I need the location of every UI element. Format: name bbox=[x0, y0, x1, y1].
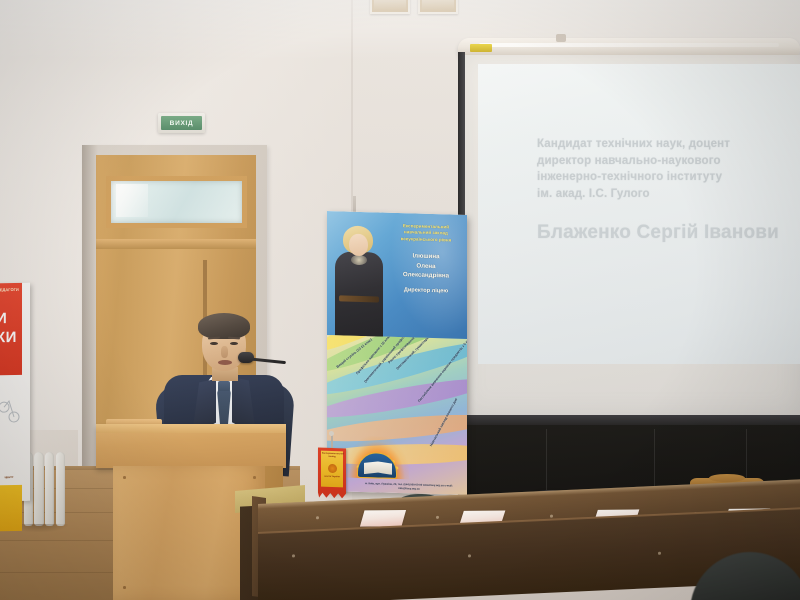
pennant-fringe bbox=[318, 491, 346, 499]
exit-sign-label: ВИХІД bbox=[170, 120, 194, 127]
slide-speaker-name: Блаженко Сергій Іванови bbox=[537, 222, 800, 244]
slide-line-3: інженерно-технічного інституту bbox=[537, 169, 800, 186]
housing-label-sticker bbox=[470, 44, 492, 52]
banner-person-name: Ілюшина Олена Олександрівна bbox=[389, 251, 463, 282]
door-rail bbox=[96, 239, 256, 249]
radiator-fin bbox=[45, 452, 54, 526]
left-rollup-big-line-2: КИ bbox=[0, 328, 22, 347]
lecture-hall-photo: ВИХІД Кандидат технічних наук, доцент ди… bbox=[0, 0, 800, 600]
portrait-face bbox=[349, 234, 368, 257]
slide-line-2: директор навчально-наукового bbox=[537, 153, 800, 170]
podium-top-edge bbox=[96, 424, 286, 433]
radiator-fin bbox=[56, 452, 65, 526]
bicycle-glyph-icon bbox=[0, 395, 20, 435]
podium-screw bbox=[253, 476, 256, 479]
banner-headline: Експериментальний навчальний заклад всеу… bbox=[389, 223, 463, 244]
housing-highlight bbox=[479, 43, 780, 47]
portrait-belt bbox=[339, 295, 379, 302]
pennant-top-text: Експериментальний заклад bbox=[322, 453, 342, 460]
banner-name-line-3: Олександрівна bbox=[389, 270, 463, 282]
podium-screw bbox=[123, 586, 126, 589]
exit-sign: ВИХІД bbox=[158, 113, 205, 133]
table-pennant-flag: Експериментальний заклад освіти України bbox=[318, 448, 346, 499]
pennant-finial bbox=[329, 431, 334, 436]
desk-stud bbox=[658, 552, 661, 555]
speaker-tie-knot bbox=[218, 381, 230, 391]
left-rollup-red-block: ПЕДАГОГИ И КИ bbox=[0, 283, 22, 375]
microphone-icon bbox=[238, 352, 254, 363]
glass-glint bbox=[116, 184, 147, 218]
banner-sun-logo bbox=[345, 436, 409, 480]
pennant-seal-icon bbox=[328, 464, 337, 473]
podium-top bbox=[96, 424, 286, 468]
wall-panel-right bbox=[418, 0, 458, 14]
desk-stud bbox=[316, 516, 319, 519]
open-book-icon bbox=[364, 461, 392, 475]
left-rollup-top-text: ПЕДАГОГИ bbox=[0, 287, 22, 292]
pennant-inner-panel: Експериментальний заклад освіти України bbox=[321, 451, 343, 488]
podium-screw bbox=[123, 476, 126, 479]
speaker-hair bbox=[198, 313, 250, 339]
banner-footer-contact: м. Київ, вул. Пушкіна, 20, тел. (044) 00… bbox=[357, 482, 461, 492]
banner-bottom-section: Вищий ступінь (10-11 клас) Профільне нав… bbox=[327, 335, 467, 495]
slide-line-1: Кандидат технічних наук, доцент bbox=[537, 136, 800, 153]
speaker-nose bbox=[221, 346, 228, 358]
door-transom-window bbox=[106, 176, 247, 228]
screen-ceiling-bracket bbox=[556, 34, 566, 42]
banner-portrait bbox=[333, 225, 385, 342]
desk-stud bbox=[468, 554, 471, 557]
radiator-fin bbox=[34, 452, 43, 526]
pennant-body: Експериментальний заклад освіти України bbox=[318, 448, 346, 493]
slide-subtitle-block: Кандидат технічних наук, доцент директор… bbox=[537, 136, 800, 202]
wall-panel-left bbox=[370, 0, 410, 14]
left-rollup-big-text: И КИ bbox=[0, 309, 22, 347]
desk-stud bbox=[436, 516, 439, 519]
slide-line-4: ім. акад. І.С. Гулого bbox=[537, 186, 800, 203]
left-rollup-bottom-text: ЦЕНТР bbox=[0, 476, 22, 479]
portrait-necklace bbox=[351, 255, 367, 265]
namecard-1 bbox=[360, 510, 406, 527]
exit-sign-face: ВИХІД bbox=[161, 116, 202, 130]
projector-screen-surface bbox=[478, 64, 800, 364]
rollup-banner: Експериментальний навчальний заклад всеу… bbox=[327, 211, 467, 495]
pennant-bottom-text: освіти України bbox=[322, 476, 342, 480]
speaker-mouth bbox=[218, 360, 232, 365]
left-rollup-yellow-block bbox=[0, 485, 22, 531]
desk-stud bbox=[550, 515, 553, 518]
desk-stud bbox=[292, 554, 295, 557]
left-rollup-big-line-1: И bbox=[0, 309, 22, 328]
left-rollup-banner: ПЕДАГОГИ И КИ ЦЕНТР bbox=[0, 283, 30, 502]
